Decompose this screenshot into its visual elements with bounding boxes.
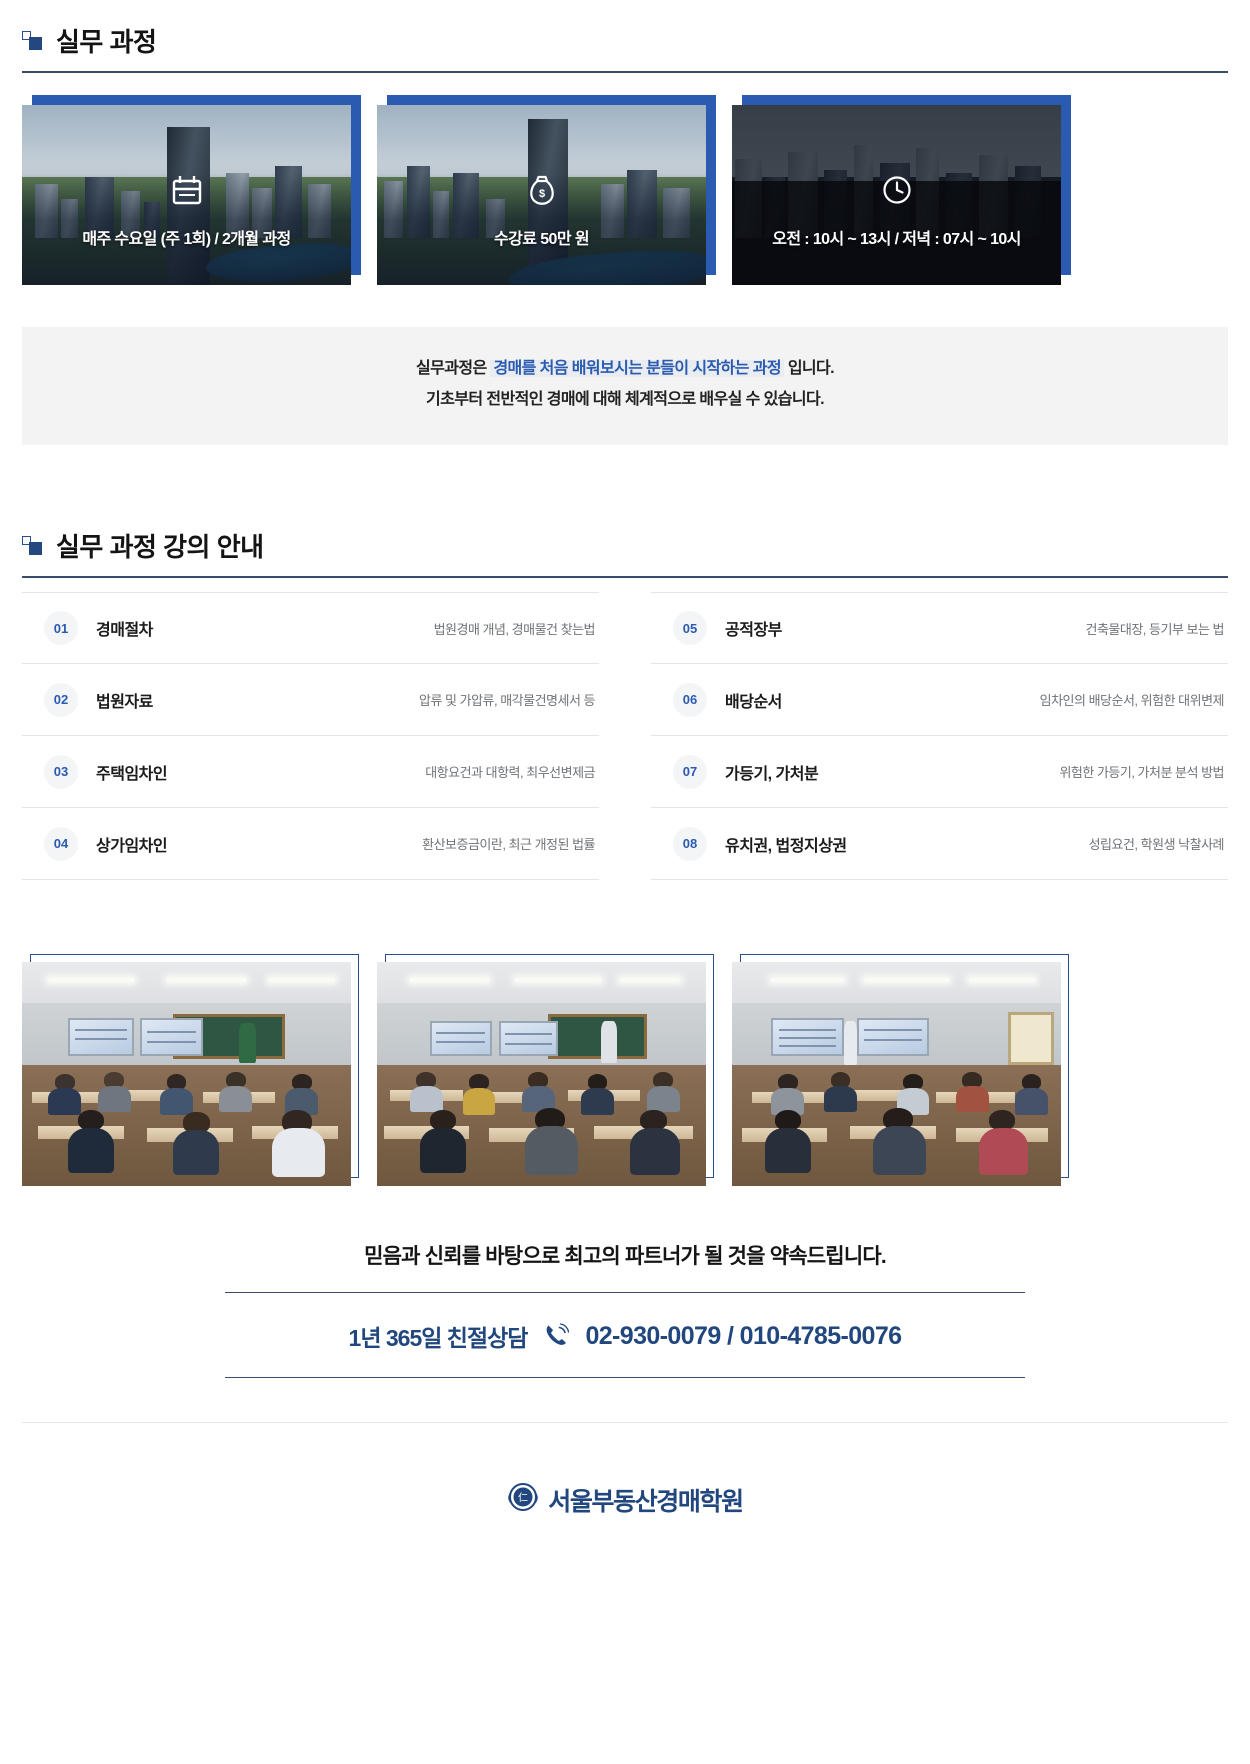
card-image: 매주 수요일 (주 1회) / 2개월 과정 [22,105,351,285]
item-description: 위험한 가등기, 가처분 분석 방법 [1059,762,1228,781]
item-title: 공적장부 [725,616,782,640]
notice-line-1: 실무과정은 경매를 처음 배워보시는 분들이 시작하는 과정 입니다. [42,353,1208,384]
section-heading-course-guide: 실무 과정 강의 안내 [22,505,1228,564]
info-card-label: 오전 : 10시 ~ 13시 / 저녁 : 07시 ~ 10시 [772,225,1021,249]
item-title: 주택임차인 [96,760,167,784]
info-card-label: 매주 수요일 (주 1회) / 2개월 과정 [82,225,290,249]
notice-line-2: 기초부터 전반적인 경매에 대해 체계적으로 배우실 수 있습니다. [42,384,1208,415]
seal-emblem-icon: 仁 [507,1481,539,1518]
item-description: 임차인의 배당순서, 위험한 대위변제 [1040,690,1228,709]
money-bag-icon: $ [525,173,559,207]
section-heading-practical-course: 실무 과정 [22,0,1228,59]
clock-icon [880,173,914,207]
list-item[interactable]: 01 경매절차 법원경매 개념, 경매물건 찾는법 [22,592,599,664]
double-square-icon [22,536,44,556]
item-number: 08 [673,827,707,861]
item-description: 환산보증금이란, 최근 개정된 법률 [422,834,599,853]
classroom-photo-gallery [22,954,1228,1186]
item-title: 배당순서 [725,688,782,712]
info-card-label: 수강료 50만 원 [494,225,589,249]
info-card-schedule[interactable]: 매주 수요일 (주 1회) / 2개월 과정 [22,95,351,285]
item-description: 대항요건과 대항력, 최우선변제금 [425,762,599,781]
classroom-photo-3[interactable] [732,954,1061,1186]
calendar-icon [170,173,204,207]
list-item[interactable]: 06 배당순서 임차인의 배당순서, 위험한 대위변제 [651,664,1228,736]
info-card-tuition[interactable]: $ 수강료 50만 원 [377,95,706,285]
photo-image [377,962,706,1186]
contact-row[interactable]: 1년 365일 친절상담 02-930-0079 / 010-4785-0076 [22,1319,1228,1353]
phone-icon [541,1321,571,1351]
footer-separator [22,1422,1228,1423]
item-number: 01 [44,611,78,645]
heading-divider [22,576,1228,578]
item-number: 07 [673,755,707,789]
photo-image [22,962,351,1186]
page-root: 실무 과정 [0,0,1250,1518]
item-number: 02 [44,683,78,717]
curriculum-list: 01 경매절차 법원경매 개념, 경매물건 찾는법 05 공적장부 건축물대장,… [22,592,1228,880]
list-item[interactable]: 08 유치권, 법정지상권 성립요건, 학원생 낙찰사례 [651,808,1228,880]
logo-text: 서울부동산경매학원 [548,1482,742,1518]
photo-image [732,962,1061,1186]
item-title: 법원자료 [96,688,153,712]
list-item[interactable]: 05 공적장부 건축물대장, 등기부 보는 법 [651,592,1228,664]
info-card-class-hours[interactable]: 오전 : 10시 ~ 13시 / 저녁 : 07시 ~ 10시 [732,95,1061,285]
item-description: 법원경매 개념, 경매물건 찾는법 [434,619,599,638]
promo-tagline: 믿음과 신뢰를 바탕으로 최고의 파트너가 될 것을 약속드립니다. [22,1240,1228,1270]
card-image: 오전 : 10시 ~ 13시 / 저녁 : 07시 ~ 10시 [732,105,1061,285]
svg-text:仁: 仁 [518,1492,528,1504]
item-description: 압류 및 가압류, 매각물건명세서 등 [419,690,599,709]
notice-suffix: 입니다. [788,360,834,377]
item-description: 건축물대장, 등기부 보는 법 [1085,619,1228,638]
promo-divider-bottom [225,1377,1025,1378]
consult-label: 1년 365일 친절상담 [349,1319,528,1353]
classroom-photo-2[interactable] [377,954,706,1186]
heading-divider [22,71,1228,73]
item-title: 상가임차인 [96,832,167,856]
footer-logo[interactable]: 仁 서울부동산경매학원 [22,1481,1228,1518]
phone-number[interactable]: 02-930-0079 / 010-4785-0076 [585,1322,901,1351]
item-number: 03 [44,755,78,789]
item-number: 05 [673,611,707,645]
promo-section: 믿음과 신뢰를 바탕으로 최고의 파트너가 될 것을 약속드립니다. 1년 36… [22,1240,1228,1378]
item-description: 성립요건, 학원생 낙찰사례 [1089,834,1228,853]
promo-divider-top [225,1292,1025,1293]
notice-highlight: 경매를 처음 배워보시는 분들이 시작하는 과정 [490,360,784,377]
classroom-photo-1[interactable] [22,954,351,1186]
course-info-cards: 매주 수요일 (주 1회) / 2개월 과정 [22,95,1228,285]
list-item[interactable]: 04 상가임차인 환산보증금이란, 최근 개정된 법률 [22,808,599,880]
section-title: 실무 과정 강의 안내 [56,527,264,564]
item-number: 04 [44,827,78,861]
svg-text:$: $ [538,188,544,200]
item-number: 06 [673,683,707,717]
course-notice-box: 실무과정은 경매를 처음 배워보시는 분들이 시작하는 과정 입니다. 기초부터… [22,327,1228,445]
item-title: 경매절차 [96,616,153,640]
notice-prefix: 실무과정은 [416,360,487,377]
list-item[interactable]: 03 주택임차인 대항요건과 대항력, 최우선변제금 [22,736,599,808]
list-item[interactable]: 07 가등기, 가처분 위험한 가등기, 가처분 분석 방법 [651,736,1228,808]
card-image: $ 수강료 50만 원 [377,105,706,285]
double-square-icon [22,31,44,51]
item-title: 가등기, 가처분 [725,760,818,784]
item-title: 유치권, 법정지상권 [725,832,847,856]
list-item[interactable]: 02 법원자료 압류 및 가압류, 매각물건명세서 등 [22,664,599,736]
page-title: 실무 과정 [56,22,156,59]
